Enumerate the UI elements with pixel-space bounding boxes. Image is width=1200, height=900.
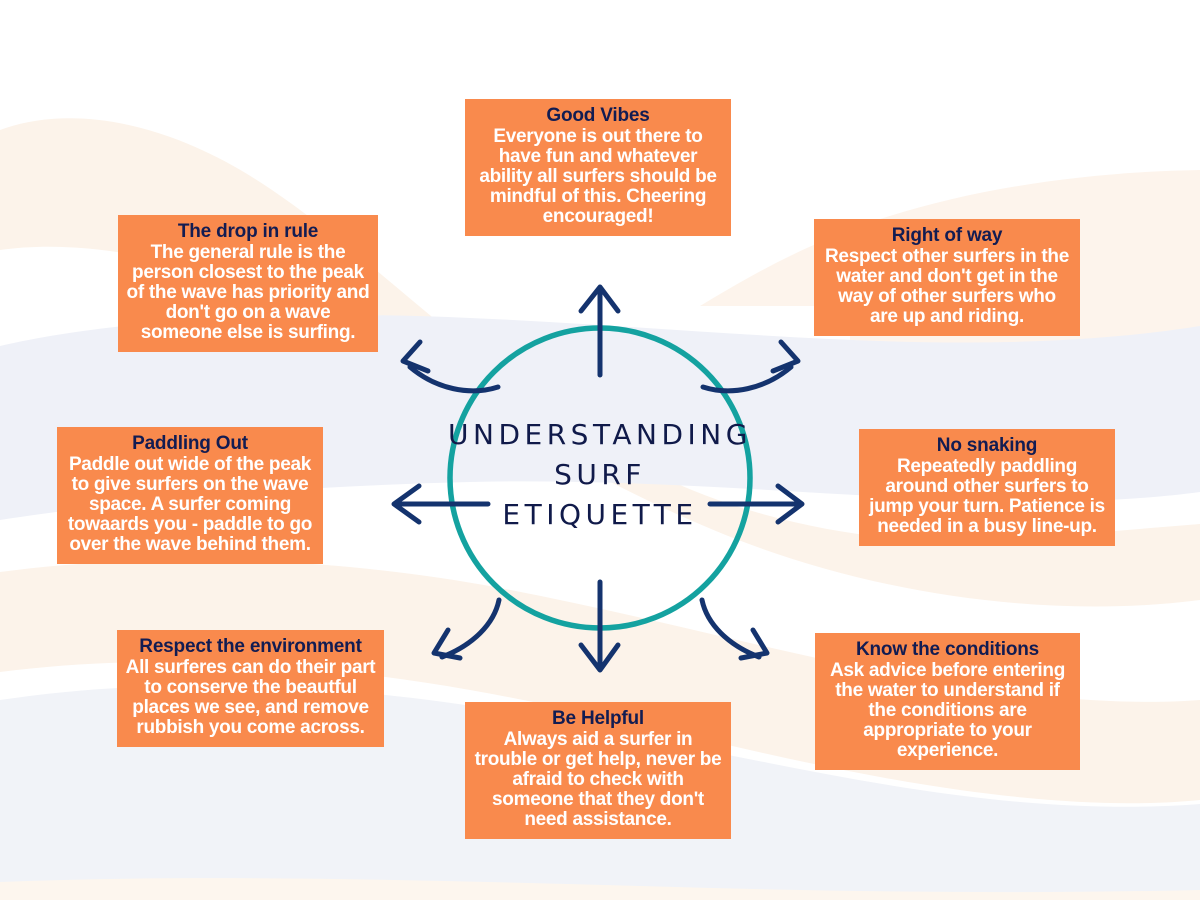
card-respect-the-environment[interactable]: Respect the environment All surferes can… xyxy=(117,630,384,747)
center-title: Understanding Surf Etiquette xyxy=(430,415,770,534)
card-know-the-conditions-body: Ask advice before entering the water to … xyxy=(823,661,1072,761)
card-be-helpful[interactable]: Be Helpful Always aid a surfer in troubl… xyxy=(465,702,731,839)
card-the-drop-in-rule-title: The drop in rule xyxy=(126,222,370,242)
center-title-line-3: Etiquette xyxy=(430,495,770,535)
card-know-the-conditions[interactable]: Know the conditions Ask advice before en… xyxy=(815,633,1080,770)
card-respect-the-environment-title: Respect the environment xyxy=(125,637,376,657)
center-title-line-1: Understanding xyxy=(430,415,770,455)
card-be-helpful-body: Always aid a surfer in trouble or get he… xyxy=(473,730,723,830)
card-respect-the-environment-body: All surferes can do their part to conser… xyxy=(125,658,376,738)
card-right-of-way-title: Right of way xyxy=(822,226,1072,246)
card-know-the-conditions-title: Know the conditions xyxy=(823,640,1072,660)
card-no-snaking[interactable]: No snaking Repeatedly paddling around ot… xyxy=(859,429,1115,546)
card-paddling-out-title: Paddling Out xyxy=(65,434,315,454)
card-the-drop-in-rule-body: The general rule is the person closest t… xyxy=(126,243,370,343)
card-no-snaking-title: No snaking xyxy=(867,436,1107,456)
arrow-down-left xyxy=(434,600,499,658)
center-title-line-2: Surf xyxy=(430,455,770,495)
card-good-vibes-title: Good Vibes xyxy=(473,106,723,126)
card-good-vibes[interactable]: Good Vibes Everyone is out there to have… xyxy=(465,99,731,236)
card-paddling-out-body: Paddle out wide of the peak to give surf… xyxy=(65,455,315,555)
infographic-canvas: Understanding Surf Etiquette Good Vibes … xyxy=(0,0,1200,900)
card-be-helpful-title: Be Helpful xyxy=(473,709,723,729)
card-paddling-out[interactable]: Paddling Out Paddle out wide of the peak… xyxy=(57,427,323,564)
card-right-of-way-body: Respect other surfers in the water and d… xyxy=(822,247,1072,327)
card-right-of-way[interactable]: Right of way Respect other surfers in th… xyxy=(814,219,1080,336)
card-no-snaking-body: Repeatedly paddling around other surfers… xyxy=(867,457,1107,537)
card-the-drop-in-rule[interactable]: The drop in rule The general rule is the… xyxy=(118,215,378,352)
arrow-down-right xyxy=(702,600,767,658)
card-good-vibes-body: Everyone is out there to have fun and wh… xyxy=(473,127,723,227)
